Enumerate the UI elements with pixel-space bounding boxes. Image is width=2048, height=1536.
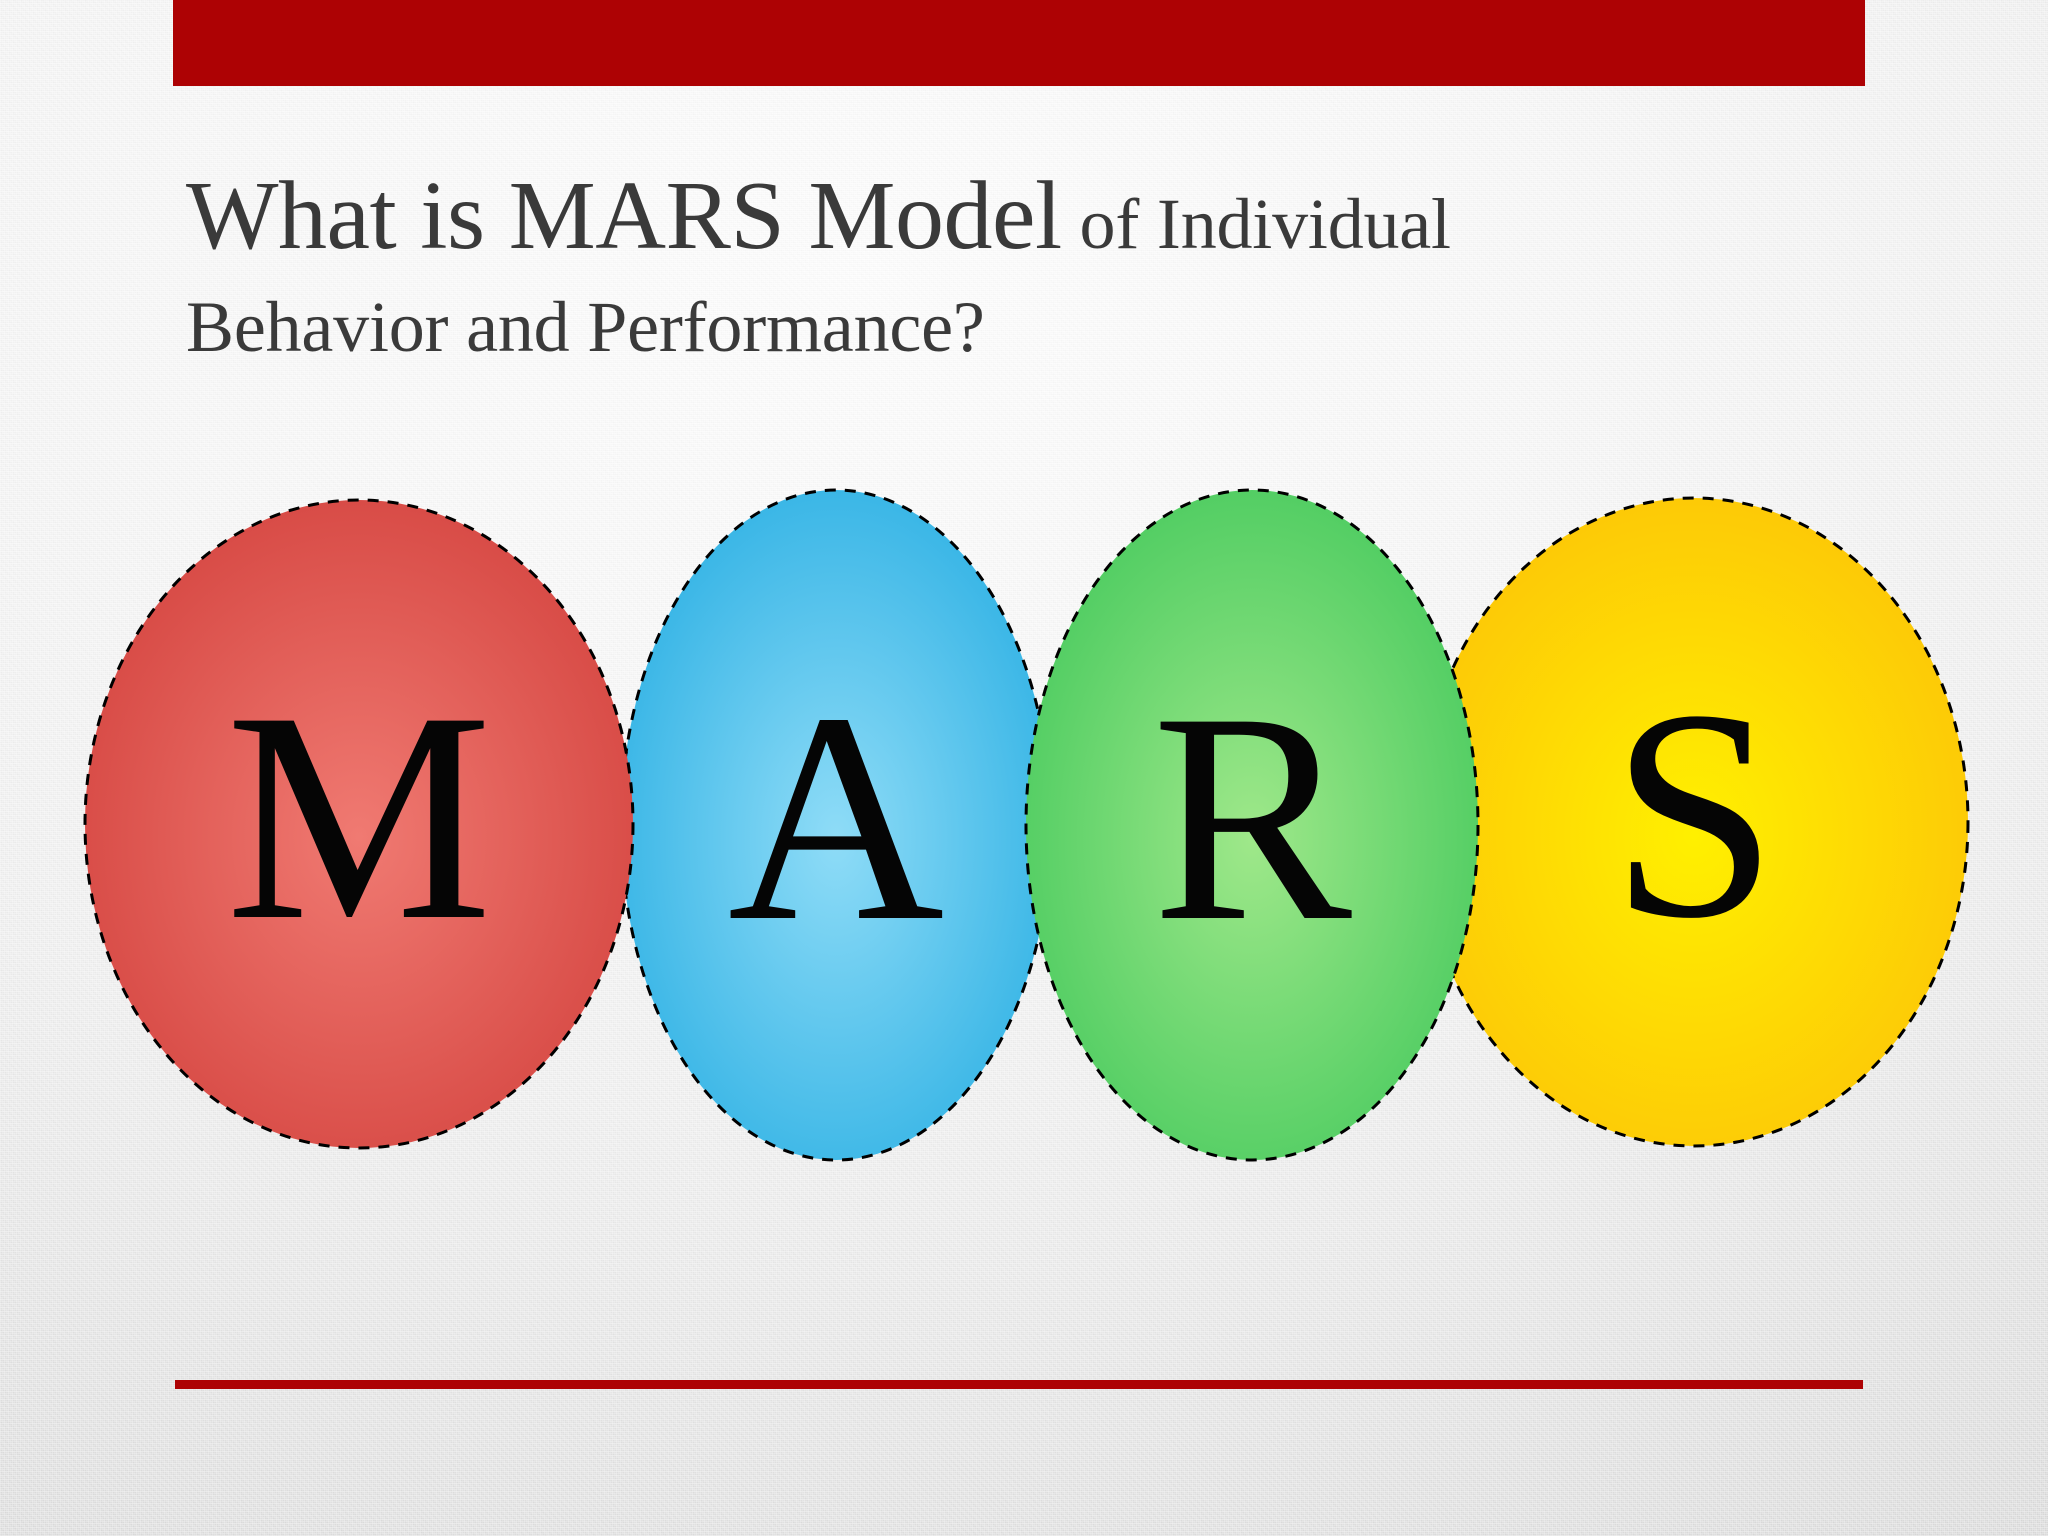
venn-letter-m: M (85, 666, 633, 966)
venn-letter-a: A (621, 667, 1051, 967)
mars-venn-diagram: MARS (0, 0, 2048, 1536)
venn-letter-r: R (1026, 667, 1478, 967)
venn-letter-s: S (1420, 664, 1968, 964)
slide-canvas: What is MARS Model of Individual Behavio… (0, 0, 2048, 1536)
bottom-accent-rule (175, 1380, 1863, 1389)
